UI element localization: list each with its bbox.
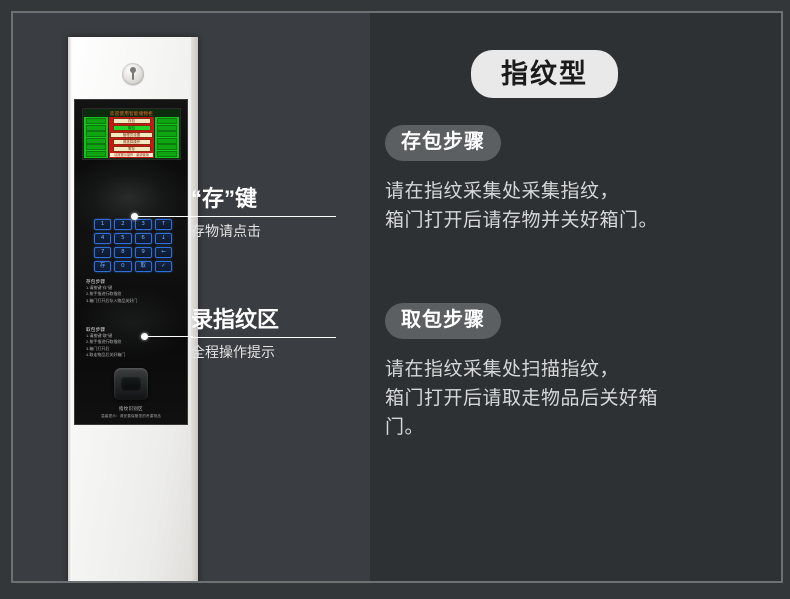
lcd-center-menu: 存包 取包 管理员设置 请选择操作 寄存 请按提示操作 · 谢谢使用 — [109, 117, 154, 158]
lcd-cell — [157, 151, 177, 157]
keyhole-slot — [132, 68, 134, 80]
callout-divider — [191, 337, 336, 338]
lcd-cell — [157, 118, 177, 124]
lcd-cell — [157, 125, 177, 131]
keypad-key[interactable]: 9 — [135, 247, 152, 258]
keypad-key-retrieve[interactable]: 取 — [135, 261, 152, 272]
printed-instructions-deposit: 存包步骤 1.请按键"存"键 2.按手指进行取指纹 3.箱门打开后存入物品关好门 — [86, 278, 178, 304]
lcd-cell — [86, 138, 106, 144]
callout-subtitle: 存物请点击 — [191, 222, 336, 240]
deposit-steps-text: 请在指纹采集处采集指纹， 箱门打开后请存物并关好箱门。 — [385, 177, 770, 235]
product-type-title: 指纹型 — [471, 50, 618, 98]
keypad-key[interactable]: 7 — [94, 247, 111, 258]
numeric-keypad[interactable]: 1 2 3 ↑ 4 5 6 ↓ 7 8 9 ← 存 0 取 ✓ — [94, 219, 172, 272]
cabinet-lock-icon[interactable] — [122, 63, 144, 85]
right-description-panel: 指纹型 存包步骤 请在指纹采集处采集指纹， 箱门打开后请存物并关好箱门。 取包步… — [370, 13, 781, 581]
lcd-menu-chip: 请选择操作 — [113, 139, 151, 145]
keypad-key[interactable]: 4 — [94, 233, 111, 244]
lcd-cell — [157, 144, 177, 150]
deposit-steps-line: 请在指纹采集处采集指纹， — [385, 177, 770, 206]
keypad-key[interactable]: 5 — [114, 233, 131, 244]
fingerprint-area-label: 指纹识别区 — [75, 406, 187, 412]
deposit-steps-line: 箱门打开后请存物并关好箱门。 — [385, 206, 770, 235]
control-face-panel: 欢迎使用智能储物柜 存包 取包 管理 — [74, 99, 188, 425]
callout-title: “存”键 — [191, 186, 336, 212]
keypad-key[interactable]: 8 — [114, 247, 131, 258]
lcd-body: 存包 取包 管理员设置 请选择操作 寄存 请按提示操作 · 谢谢使用 — [84, 117, 179, 158]
callout-leader-line-fingerprint-area — [146, 336, 193, 337]
keypad-key[interactable]: 6 — [135, 233, 152, 244]
cabinet-footer-note: 温馨提示：请妥善保管您的贵重物品 — [75, 414, 187, 419]
product-detail-page: 欢迎使用智能储物柜 存包 取包 管理 — [0, 0, 790, 599]
cabinet-left-edge — [68, 37, 72, 581]
lcd-right-column — [155, 117, 179, 158]
lcd-menu-chip: 存包 — [113, 118, 151, 124]
keypad-key[interactable]: ← — [155, 247, 172, 258]
keypad-key[interactable]: 2 — [114, 219, 131, 230]
lcd-menu-chip: 寄存 — [113, 146, 151, 152]
lcd-screen: 欢迎使用智能储物柜 存包 取包 管理 — [82, 108, 181, 160]
lcd-cell — [157, 131, 177, 137]
keypad-key-deposit[interactable]: 存 — [94, 261, 111, 272]
keypad-key-confirm[interactable]: ✓ — [155, 261, 172, 272]
keypad-key[interactable]: 3 — [135, 219, 152, 230]
callout-divider — [191, 216, 336, 217]
keypad-key[interactable]: ↓ — [155, 233, 172, 244]
lcd-cell — [86, 118, 106, 124]
callout-leader-line-deposit-key — [136, 216, 193, 217]
printed-instructions-line: 4.取走物品后关好箱门 — [86, 352, 178, 358]
printed-instructions-retrieve: 取包步骤 1.请按键"取"键 2.按手指进行取指纹 3.箱门打开后 4.取走物品… — [86, 326, 178, 359]
keypad-key[interactable]: ↑ — [155, 219, 172, 230]
lcd-menu-chip: 管理员设置 — [110, 132, 153, 138]
keypad-key[interactable]: 0 — [114, 261, 131, 272]
deposit-steps-block: 存包步骤 请在指纹采集处采集指纹， 箱门打开后请存物并关好箱门。 — [385, 125, 770, 235]
retrieve-steps-line: 箱门打开后请取走物品后关好箱 — [385, 384, 770, 413]
keypad-key[interactable]: 1 — [94, 219, 111, 230]
retrieve-steps-badge: 取包步骤 — [385, 303, 501, 339]
printed-instructions-title: 取包步骤 — [86, 326, 178, 333]
printed-instructions-title: 存包步骤 — [86, 278, 178, 285]
retrieve-steps-line: 门。 — [385, 413, 770, 442]
lcd-cell — [86, 144, 106, 150]
retrieve-steps-block: 取包步骤 请在指纹采集处扫描指纹， 箱门打开后请取走物品后关好箱 门。 — [385, 303, 770, 442]
retrieve-steps-text: 请在指纹采集处扫描指纹， 箱门打开后请取走物品后关好箱 门。 — [385, 355, 770, 442]
retrieve-steps-line: 请在指纹采集处扫描指纹， — [385, 355, 770, 384]
deposit-steps-badge: 存包步骤 — [385, 125, 501, 161]
fingerprint-sensor-window[interactable] — [121, 377, 141, 391]
left-photo-panel: 欢迎使用智能储物柜 存包 取包 管理 — [13, 13, 370, 581]
callout-deposit-key: “存”键 存物请点击 — [191, 186, 336, 240]
callout-title: 录指纹区 — [191, 307, 336, 333]
callout-subtitle: 全程操作提示 — [191, 343, 336, 361]
lcd-cell — [86, 151, 106, 157]
fingerprint-reader-icon[interactable] — [114, 368, 148, 400]
lcd-cell — [86, 125, 106, 131]
lcd-footer-text: 请按提示操作 · 谢谢使用 — [110, 153, 152, 157]
printed-instructions-line: 3.箱门打开后存入物品关好门 — [86, 298, 178, 304]
callout-fingerprint-area: 录指纹区 全程操作提示 — [191, 307, 336, 361]
lcd-cell — [157, 138, 177, 144]
lcd-header-text: 欢迎使用智能储物柜 — [84, 110, 179, 117]
lcd-menu-chip: 取包 — [113, 125, 151, 131]
lcd-left-column — [84, 117, 108, 158]
locker-cabinet: 欢迎使用智能储物柜 存包 取包 管理 — [68, 37, 198, 581]
lcd-cell — [86, 131, 106, 137]
